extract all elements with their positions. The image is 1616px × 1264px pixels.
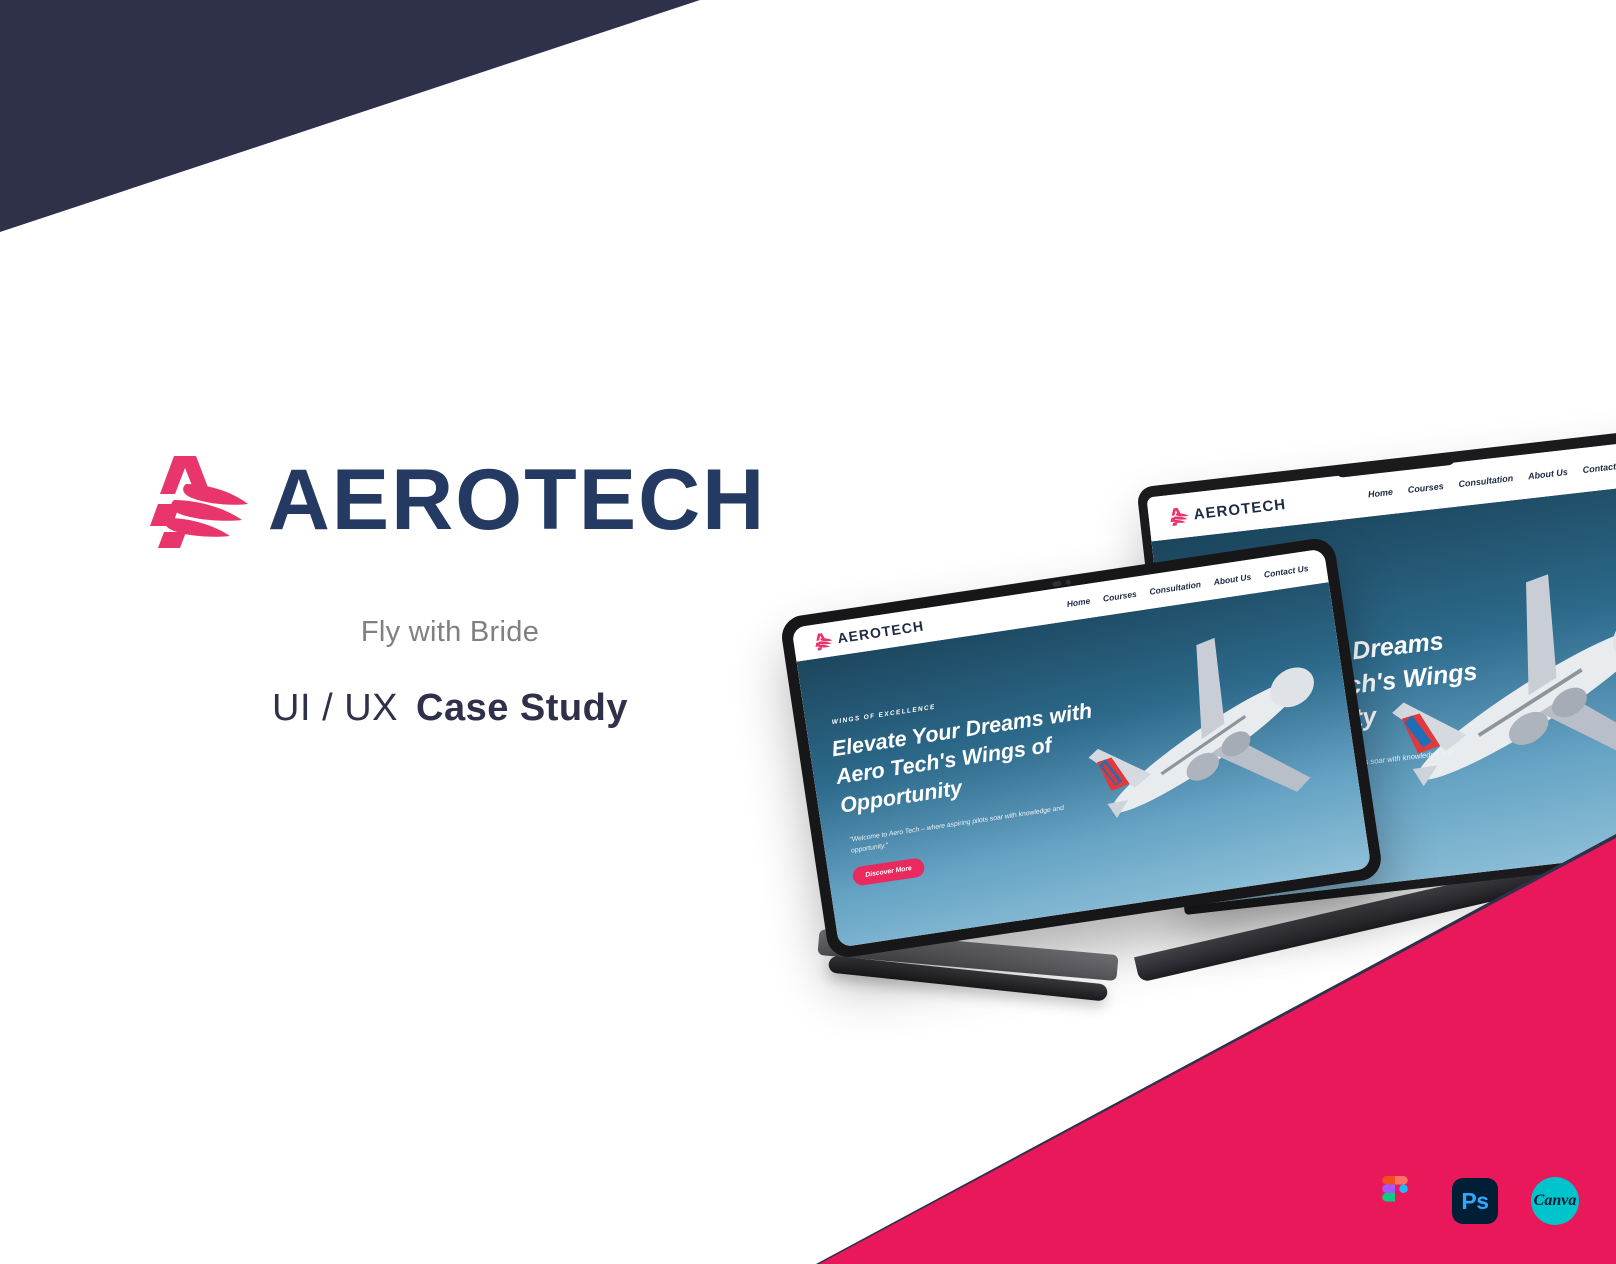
title-block: AEROTECH Fly with Bride UI / UX Case Stu…: [0, 448, 900, 730]
photoshop-badge-label: Ps: [1452, 1178, 1498, 1224]
brand-wordmark: AEROTECH: [268, 457, 767, 543]
slide-canvas: AEROTECH Fly with Bride UI / UX Case Stu…: [0, 0, 1616, 1264]
canva-badge-label: Canva: [1531, 1177, 1579, 1225]
nav-item-courses[interactable]: Courses: [1407, 481, 1444, 495]
canva-icon[interactable]: Canva: [1530, 1176, 1580, 1226]
nav-item-about-us[interactable]: About Us: [1213, 572, 1252, 587]
aerotech-winged-a-logo-icon: [810, 630, 834, 652]
title-emphasis: Case Study: [416, 687, 628, 730]
nav-item-home[interactable]: Home: [1367, 487, 1393, 500]
site-logo[interactable]: AEROTECH: [1166, 494, 1287, 527]
tablet-website-preview: AEROTECH Home Courses Consultation About…: [792, 549, 1372, 948]
photoshop-icon[interactable]: Ps: [1450, 1176, 1500, 1226]
site-logo-text: AEROTECH: [836, 618, 925, 647]
aerotech-winged-a-logo-icon: [1166, 505, 1190, 527]
nav-item-courses[interactable]: Courses: [1102, 589, 1137, 604]
tablet-sensor: [1065, 579, 1071, 585]
site-logo-text: AEROTECH: [1193, 495, 1287, 522]
brand-tagline: Fly with Bride: [361, 616, 539, 649]
aerotech-winged-a-logo-icon: [134, 448, 250, 552]
nav-item-about-us[interactable]: About Us: [1527, 467, 1568, 481]
title-prefix: UI / UX: [272, 687, 398, 730]
case-study-title: UI / UX Case Study: [272, 687, 628, 730]
nav-item-contact-us[interactable]: Contact Us: [1582, 460, 1616, 475]
tool-badges: Ps Canva: [1370, 1176, 1580, 1226]
tablet-screen: AEROTECH Home Courses Consultation About…: [792, 549, 1372, 948]
nav-item-home[interactable]: Home: [1066, 596, 1091, 609]
top-left-navy-triangle: [0, 0, 700, 232]
nav-item-contact-us[interactable]: Contact Us: [1263, 563, 1309, 580]
nav-item-consultation[interactable]: Consultation: [1458, 473, 1514, 489]
tablet-camera: [1052, 581, 1062, 587]
brand-lockup: AEROTECH: [134, 448, 767, 552]
hero-copy: WINGS OF EXCELLENCE Elevate Your Dreams …: [797, 612, 1170, 947]
discover-more-button[interactable]: Discover More: [852, 857, 926, 886]
figma-icon[interactable]: [1370, 1176, 1420, 1226]
nav-item-consultation[interactable]: Consultation: [1149, 579, 1202, 597]
